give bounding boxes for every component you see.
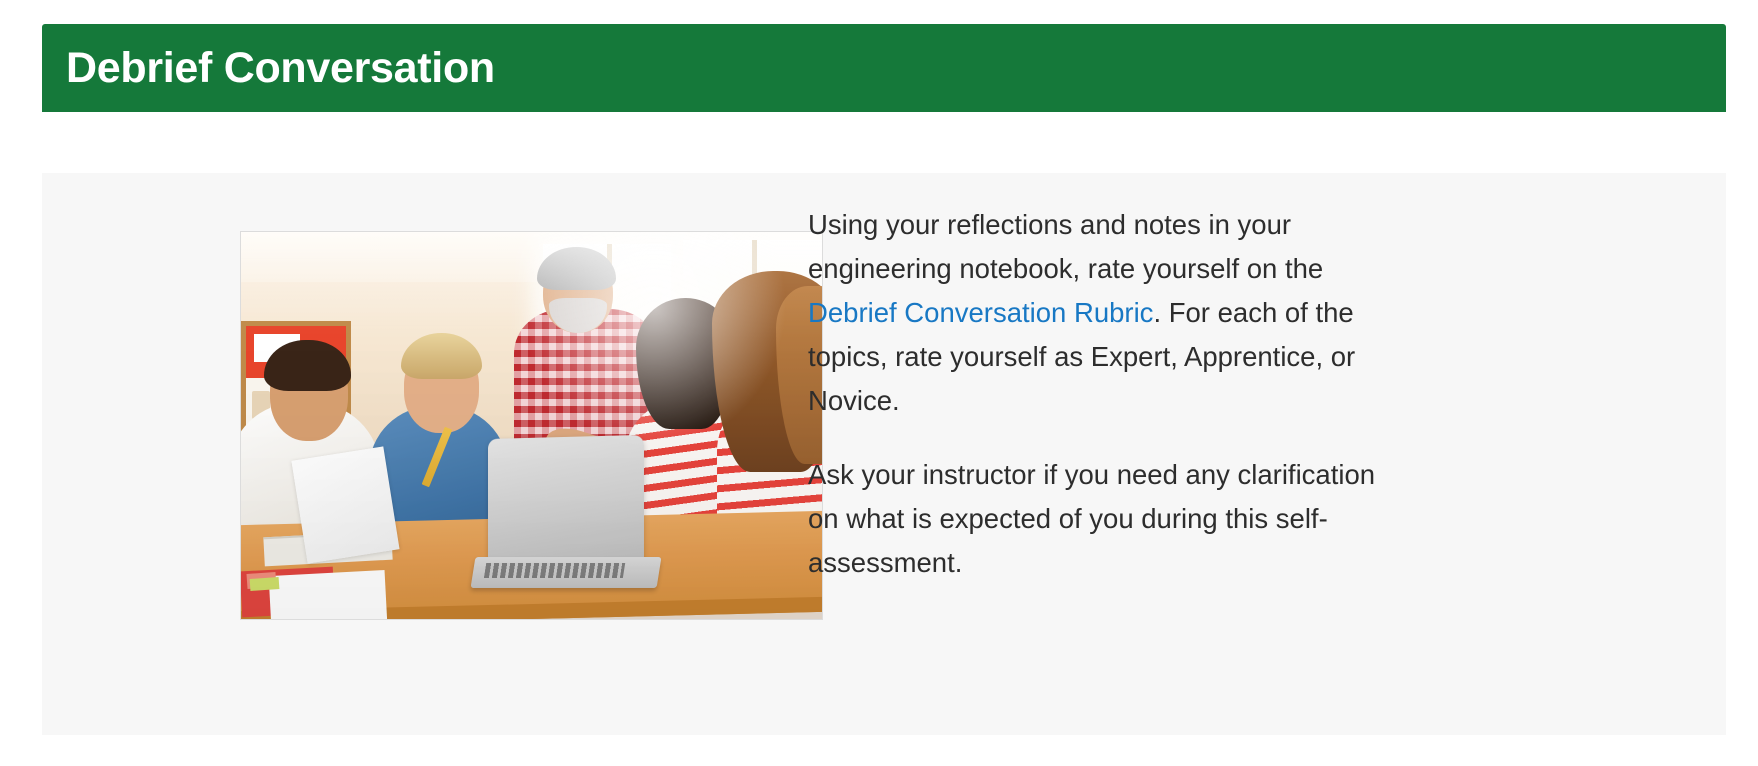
card-inner: Using your reflections and notes in your… [42, 173, 1726, 735]
instruction-paragraph-1: Using your reflections and notes in your… [808, 203, 1378, 423]
photo-laptop-keyboard [484, 563, 626, 578]
page-header-banner: Debrief Conversation [42, 24, 1726, 112]
instruction-paragraph-1-part1: Using your reflections and notes in your… [808, 209, 1323, 284]
page-title: Debrief Conversation [66, 47, 495, 90]
text-column: Using your reflections and notes in your… [808, 203, 1378, 585]
debrief-conversation-rubric-link[interactable]: Debrief Conversation Rubric [808, 297, 1153, 328]
content-card: Using your reflections and notes in your… [42, 173, 1726, 735]
photo-held-paper [291, 446, 399, 564]
photo-canvas [241, 232, 822, 619]
photo-desk-paper [269, 570, 388, 619]
classroom-collaboration-photo [240, 231, 823, 620]
page-root: Debrief Conversation [0, 0, 1758, 766]
instruction-paragraph-2: Ask your instructor if you need any clar… [808, 453, 1378, 585]
photo-laptop-lid [488, 435, 644, 567]
